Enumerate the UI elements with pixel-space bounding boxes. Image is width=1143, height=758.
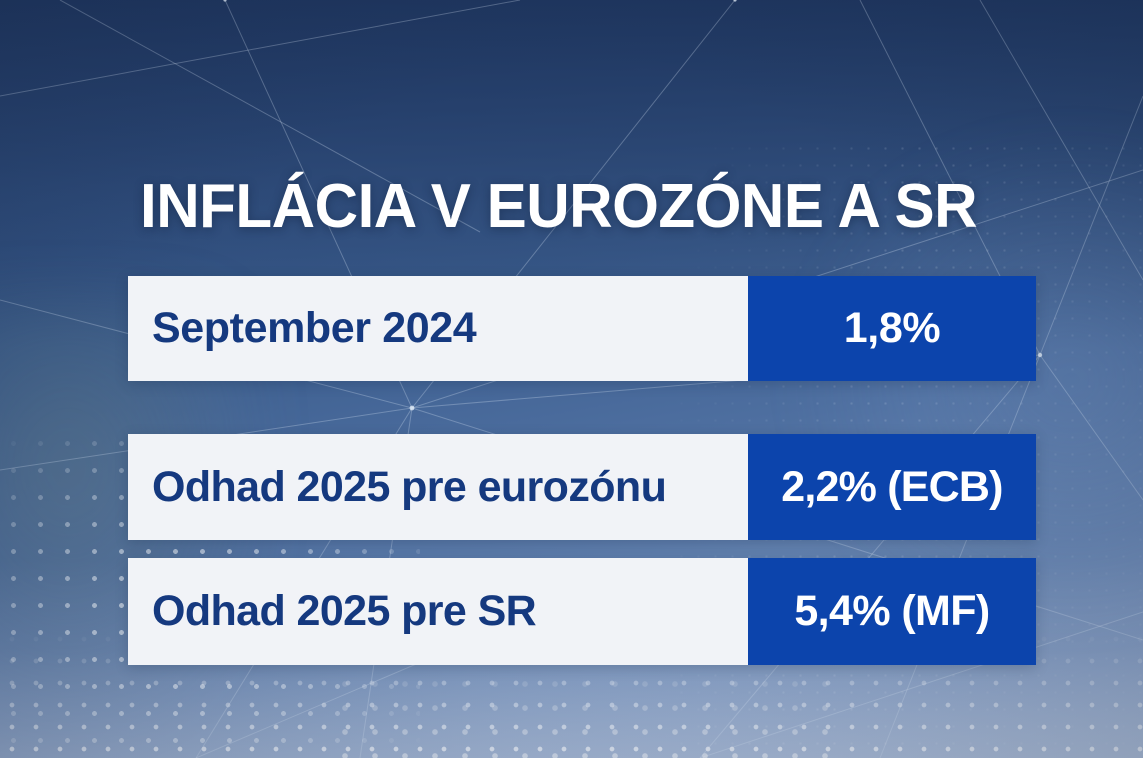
row-value: 2,2% (ECB) (748, 434, 1036, 540)
row-label: September 2024 (128, 276, 748, 381)
table-row: Odhad 2025 pre eurozónu 2,2% (ECB) (128, 434, 1036, 540)
table-row: September 2024 1,8% (128, 276, 1036, 381)
table-row: Odhad 2025 pre SR 5,4% (MF) (128, 558, 1036, 665)
row-label: Odhad 2025 pre SR (128, 558, 748, 665)
infographic-canvas: INFLÁCIA V EUROZÓNE A SR September 2024 … (0, 0, 1143, 758)
page-title: INFLÁCIA V EUROZÓNE A SR (140, 172, 1013, 242)
row-label: Odhad 2025 pre eurozónu (128, 434, 748, 540)
row-value: 5,4% (MF) (748, 558, 1036, 665)
row-value: 1,8% (748, 276, 1036, 381)
